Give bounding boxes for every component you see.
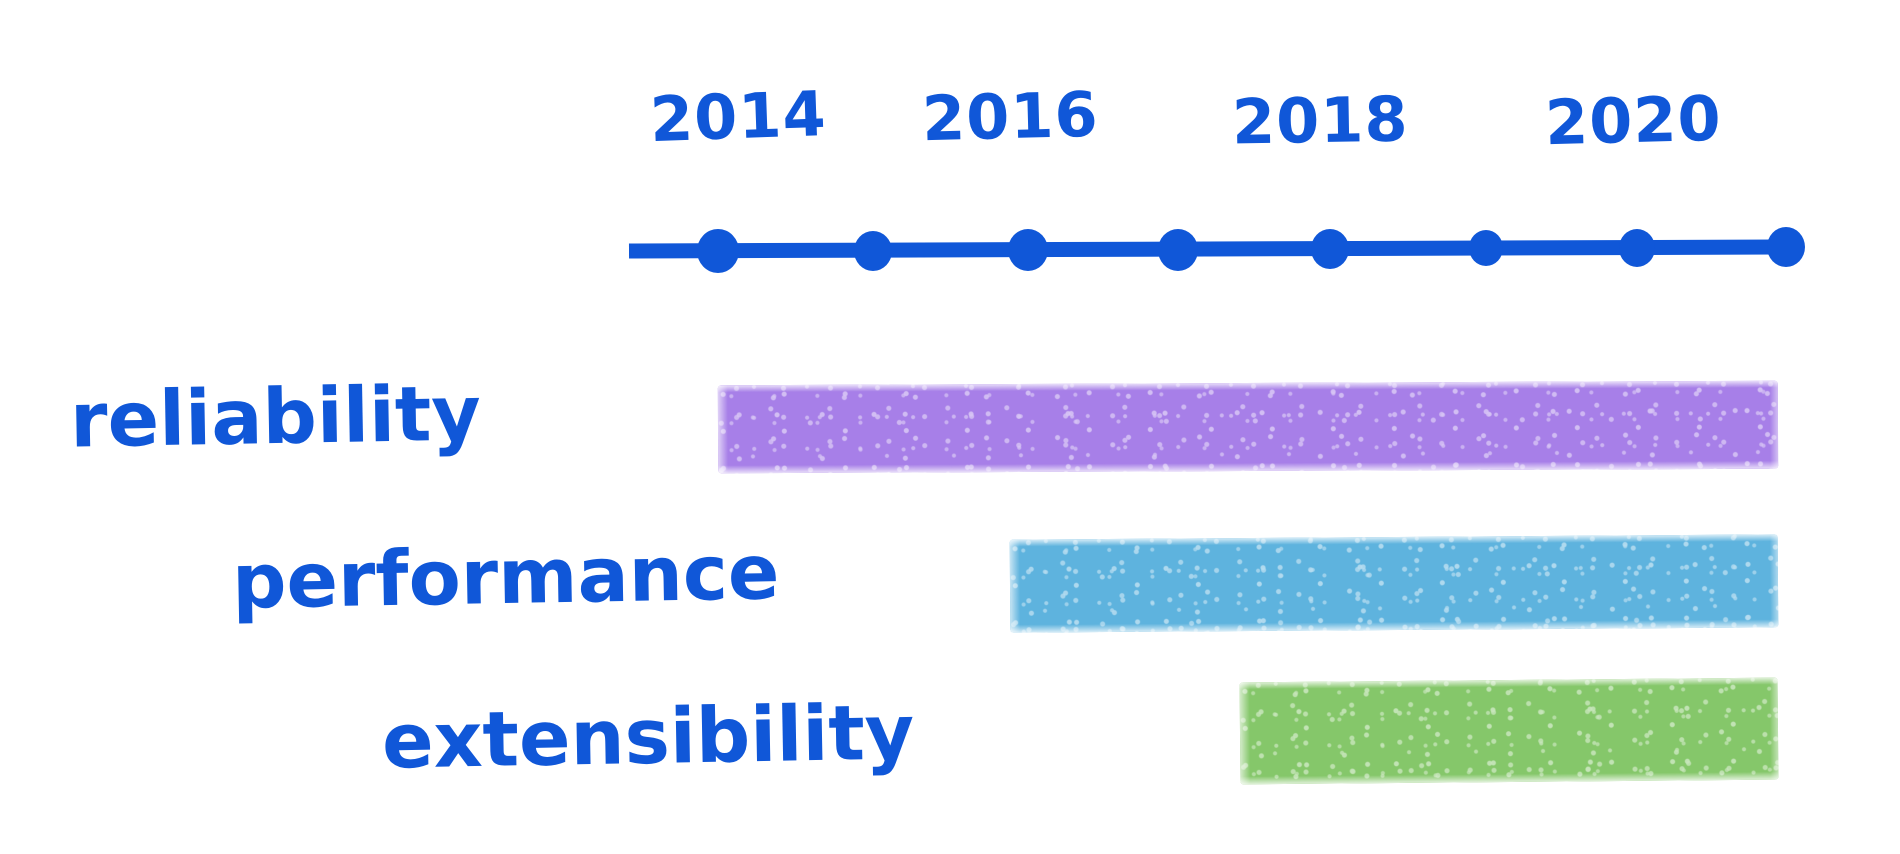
timeline-dot [1311, 229, 1349, 269]
row-label-reliability: reliability [69, 368, 481, 464]
row-label-extensibility: extensibility [381, 687, 915, 785]
bar-edge-softening [718, 381, 1778, 474]
timeline-figure: 2014 2016 2018 2020 reliability performa… [0, 0, 1900, 854]
bar-performance [1010, 534, 1779, 632]
bar-edge-softening [1240, 678, 1779, 785]
timeline-dot [697, 229, 739, 273]
timeline-dot [1158, 229, 1198, 271]
bar-edge-softening [1010, 534, 1779, 632]
timeline-dot [854, 231, 892, 271]
timeline-dot [1619, 229, 1655, 267]
year-label-2020: 2020 [1544, 82, 1722, 160]
bar-extensibility [1240, 678, 1779, 785]
year-label-2018: 2018 [1231, 82, 1409, 158]
timeline-dot [1469, 230, 1503, 266]
timeline-dot [1008, 229, 1048, 271]
year-label-2016: 2016 [921, 78, 1099, 156]
year-label-2014: 2014 [649, 77, 828, 156]
row-label-performance: performance [231, 527, 780, 626]
bar-reliability [718, 381, 1778, 474]
timeline-dot [1767, 227, 1805, 267]
timeline-axis-line [629, 247, 1788, 251]
